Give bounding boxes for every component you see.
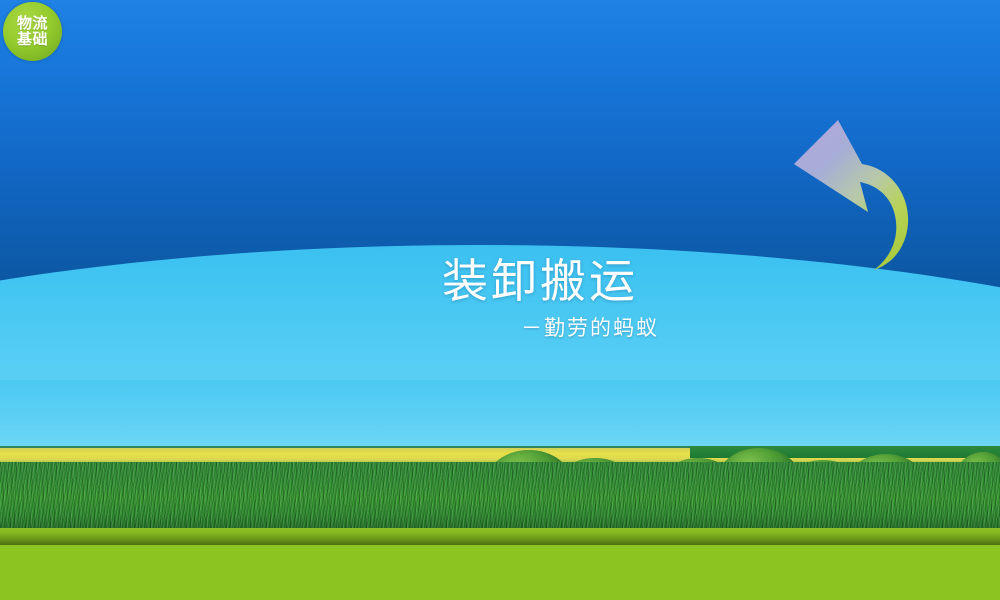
course-badge[interactable]: 物流 基础	[3, 2, 62, 61]
presentation-slide: 物流 基础 装卸搬运 －勤劳的蚂蚁	[0, 0, 1000, 600]
course-badge-line2: 基础	[17, 32, 48, 48]
footer-band-solid	[0, 545, 1000, 600]
footer-band-gradient	[0, 528, 1000, 545]
grass-texture	[0, 462, 1000, 528]
curved-back-arrow-icon	[786, 118, 916, 273]
